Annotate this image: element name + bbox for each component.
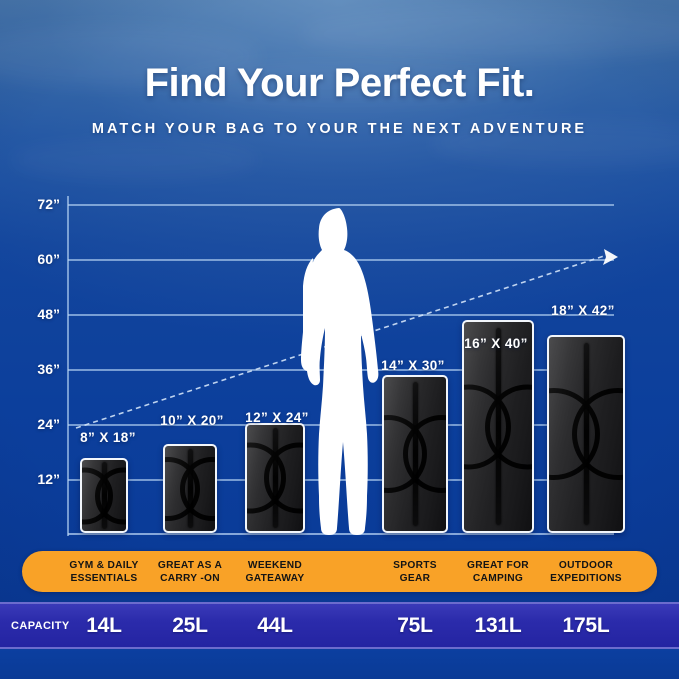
- use-case-label: GYM & DAILY ESSENTIALS: [69, 558, 138, 584]
- y-axis-tick-label: 36”: [18, 361, 60, 377]
- infographic-poster: Find Your Perfect Fit. MATCH YOUR BAG TO…: [0, 0, 679, 679]
- bag-dimension-label: 10” X 20”: [160, 413, 224, 428]
- y-axis-line: [67, 196, 69, 536]
- capacity-bar: CAPACITY 14L25L44L75L131L175L: [0, 602, 679, 649]
- human-silhouette-icon: [283, 206, 401, 536]
- bag-dimension-label: 16” X 40”: [464, 336, 528, 351]
- capacity-value: 14L: [86, 614, 122, 638]
- use-case-label: GREAT AS A CARRY -ON: [158, 558, 222, 584]
- capacity-value: 75L: [397, 614, 433, 638]
- use-case-label: GREAT FOR CAMPING: [467, 558, 529, 584]
- bag-bar: [163, 444, 217, 533]
- bag-bar: [462, 320, 534, 533]
- capacity-label: CAPACITY: [11, 620, 70, 632]
- capacity-value: 131L: [474, 614, 521, 638]
- capacity-value: 175L: [562, 614, 609, 638]
- capacity-value: 44L: [257, 614, 293, 638]
- capacity-value: 25L: [172, 614, 208, 638]
- use-case-label: OUTDOOR EXPEDITIONS: [550, 558, 622, 584]
- use-case-bar: GYM & DAILY ESSENTIALSGREAT AS A CARRY -…: [22, 551, 657, 592]
- y-axis-tick-label: 24”: [18, 416, 60, 432]
- bag-dimension-label: 18” X 42”: [551, 303, 615, 318]
- use-case-label: SPORTS GEAR: [393, 558, 437, 584]
- bag-dimension-label: 8” X 18”: [80, 430, 136, 445]
- use-case-label: WEEKEND GATEAWAY: [245, 558, 304, 584]
- bag-bar: [80, 458, 128, 533]
- footer-strip: [0, 649, 679, 679]
- bag-bar: [547, 335, 625, 533]
- y-axis-tick-label: 48”: [18, 306, 60, 322]
- y-axis-tick-label: 12”: [18, 471, 60, 487]
- y-axis-tick-label: 60”: [18, 251, 60, 267]
- y-axis-tick-label: 72”: [18, 196, 60, 212]
